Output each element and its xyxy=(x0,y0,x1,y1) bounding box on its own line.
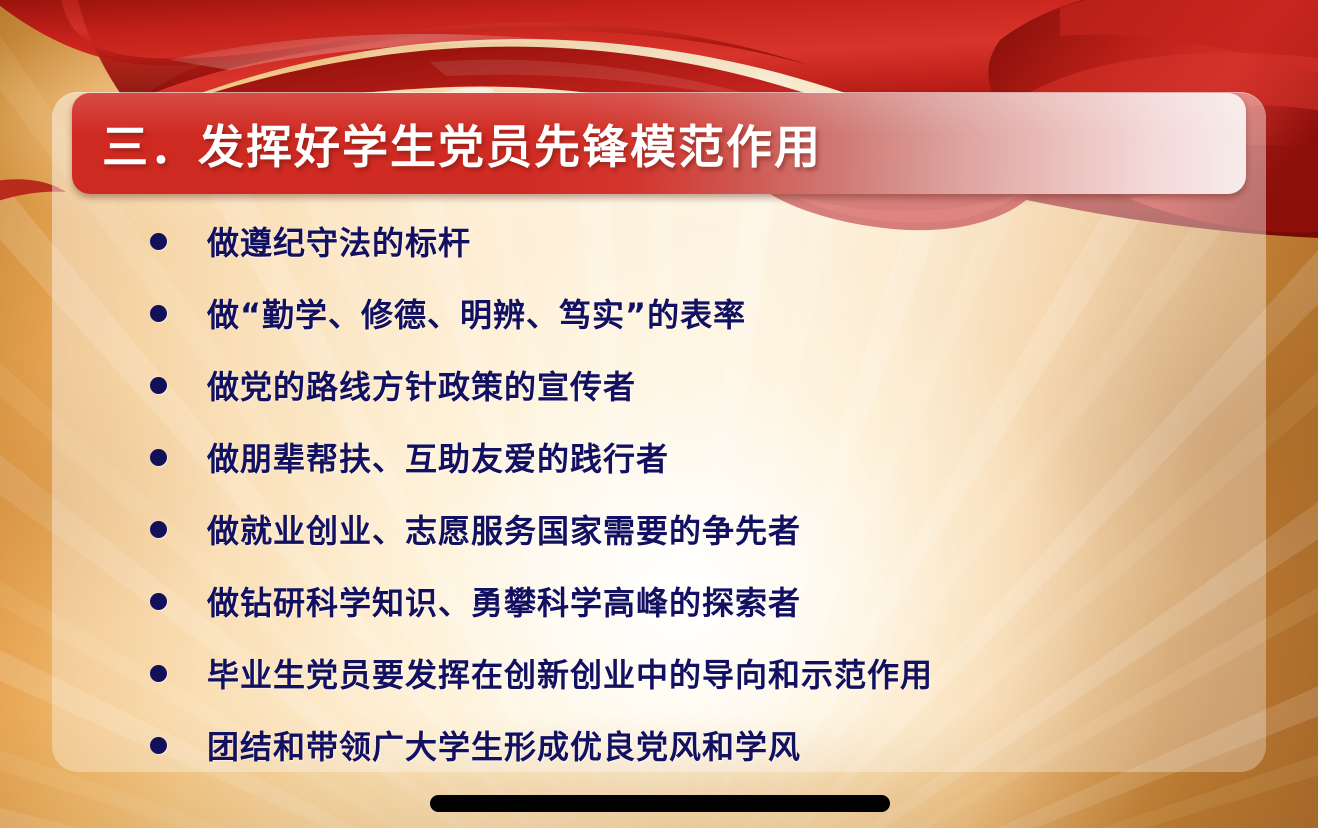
bullet-dot-icon xyxy=(150,521,167,538)
bullet-dot-icon xyxy=(150,377,167,394)
bullet-dot-icon xyxy=(150,593,167,610)
list-item: 做党的路线方针政策的宣传者 xyxy=(150,349,1230,421)
list-item-label: 做朋辈帮扶、互助友爱的践行者 xyxy=(207,434,669,480)
list-item-label: 做遵纪守法的标杆 xyxy=(207,218,471,264)
list-item-label: 做党的路线方针政策的宣传者 xyxy=(207,362,636,408)
list-item: 做“勤学、修德、明辨、笃实”的表率 xyxy=(150,277,1230,349)
bullet-dot-icon xyxy=(150,665,167,682)
presentation-slide: 三．发挥好学生党员先锋模范作用 做遵纪守法的标杆 做“勤学、修德、明辨、笃实”的… xyxy=(0,0,1318,828)
bullet-dot-icon xyxy=(150,449,167,466)
list-item: 做就业创业、志愿服务国家需要的争先者 xyxy=(150,493,1230,565)
list-item-label: 团结和带领广大学生形成优良党风和学风 xyxy=(207,722,801,768)
list-item: 做钻研科学知识、勇攀科学高峰的探索者 xyxy=(150,565,1230,637)
bullet-dot-icon xyxy=(150,737,167,754)
page-title: 三．发挥好学生党员先锋模范作用 xyxy=(102,111,822,177)
slide-title-bar: 三．发挥好学生党员先锋模范作用 xyxy=(72,93,1246,194)
list-item: 团结和带领广大学生形成优良党风和学风 xyxy=(150,709,1230,781)
list-item: 毕业生党员要发挥在创新创业中的导向和示范作用 xyxy=(150,637,1230,709)
list-item-label: 做“勤学、修德、明辨、笃实”的表率 xyxy=(207,290,746,336)
bottom-progress-bar xyxy=(430,795,890,812)
bullet-dot-icon xyxy=(150,305,167,322)
list-item-label: 做就业创业、志愿服务国家需要的争先者 xyxy=(207,506,801,552)
bullet-dot-icon xyxy=(150,233,167,250)
list-item-label: 做钻研科学知识、勇攀科学高峰的探索者 xyxy=(207,578,801,624)
list-item-label: 毕业生党员要发挥在创新创业中的导向和示范作用 xyxy=(207,650,933,696)
bullet-list: 做遵纪守法的标杆 做“勤学、修德、明辨、笃实”的表率 做党的路线方针政策的宣传者… xyxy=(150,205,1230,781)
list-item: 做遵纪守法的标杆 xyxy=(150,205,1230,277)
list-item: 做朋辈帮扶、互助友爱的践行者 xyxy=(150,421,1230,493)
